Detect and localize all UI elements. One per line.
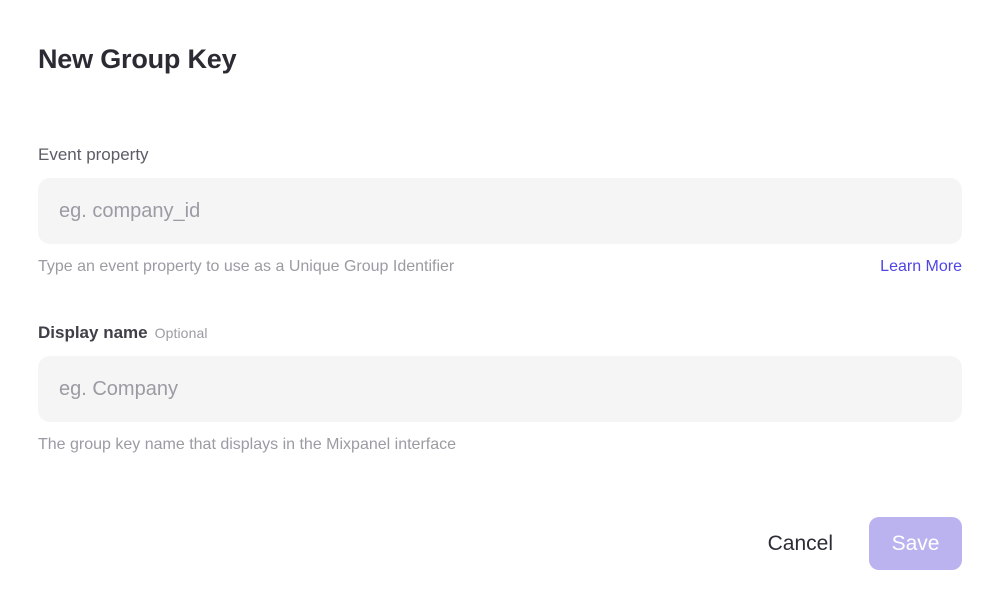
display-name-hint: The group key name that displays in the …: [38, 434, 456, 455]
event-property-label: Event property: [38, 144, 962, 166]
event-property-hint: Type an event property to use as a Uniqu…: [38, 256, 454, 277]
field-group-event-property: Event property Type an event property to…: [38, 144, 962, 277]
page-title: New Group Key: [38, 41, 236, 77]
event-property-input[interactable]: [38, 178, 962, 244]
display-name-label: Display nameOptional: [38, 322, 962, 344]
dialog-actions: Cancel Save: [768, 517, 962, 570]
event-property-footer: Type an event property to use as a Uniqu…: [38, 256, 962, 277]
display-name-optional-tag: Optional: [155, 325, 208, 341]
save-button[interactable]: Save: [869, 517, 962, 570]
display-name-label-text: Display name: [38, 323, 148, 342]
display-name-input[interactable]: [38, 356, 962, 422]
learn-more-link[interactable]: Learn More: [880, 256, 962, 277]
new-group-key-dialog: New Group Key Event property Type an eve…: [0, 0, 1000, 608]
field-group-display-name: Display nameOptional The group key name …: [38, 322, 962, 455]
display-name-footer: The group key name that displays in the …: [38, 434, 962, 455]
event-property-label-text: Event property: [38, 145, 149, 164]
new-group-key-form: Event property Type an event property to…: [38, 144, 962, 455]
cancel-button[interactable]: Cancel: [768, 533, 833, 554]
